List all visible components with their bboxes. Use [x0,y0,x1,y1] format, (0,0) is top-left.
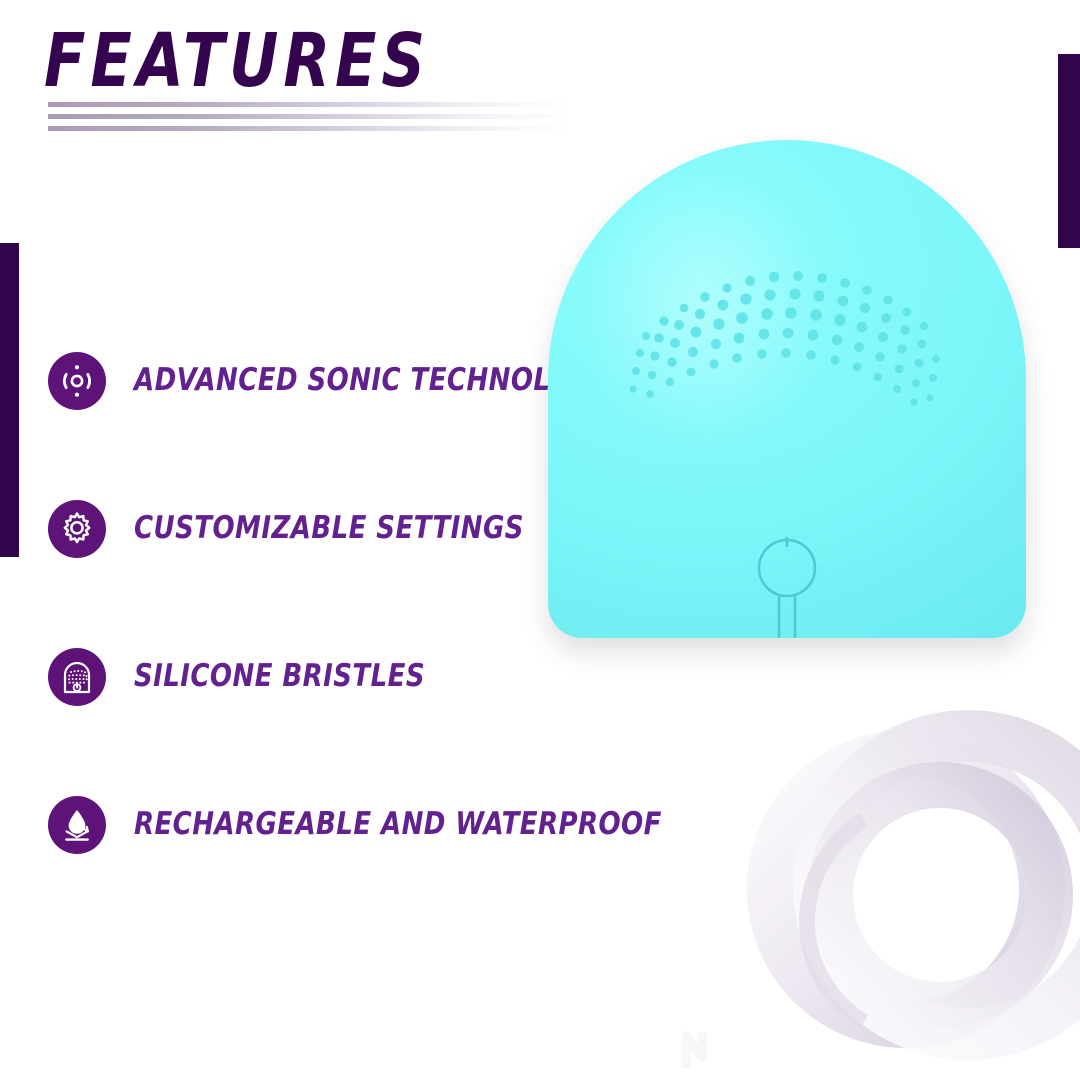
silicone-bristle-texture [548,140,1026,638]
feature-item-label: SILICONE BRISTLES [134,656,425,696]
power-button-engraving [548,140,1026,638]
page-title-block: FEATURES [44,22,664,100]
page-title: FEATURES [44,22,552,100]
feature-item-silicone-bristles: SILICONE BRISTLES [48,648,648,796]
feature-item-label: RECHARGEABLE AND WATERPROOF [134,804,662,844]
product-image [548,140,1026,640]
feature-item-label: CUSTOMIZABLE SETTINGS [134,508,524,548]
title-rule [48,102,568,107]
product-highlight [581,165,830,454]
feature-infographic: FEATURES ADVANCED SONIC TECHNOLOGY [0,0,1080,1080]
gear-icon [48,500,106,558]
right-accent-bar [1058,54,1080,248]
brand-watermark [672,1014,742,1076]
feature-item-label: ADVANCED SONIC TECHNOLOGY [134,360,612,400]
brush-device-icon [48,648,106,706]
title-rule [48,114,568,119]
feature-item-rechargeable-and-waterproof: RECHARGEABLE AND WATERPROOF [48,796,648,944]
water-drop-icon [48,796,106,854]
title-rule-stack [48,102,568,131]
title-rule [48,126,568,131]
left-accent-bar [0,243,19,557]
sonic-waves-icon [48,352,106,410]
silicone-facial-cleansing-brush [548,140,1026,638]
